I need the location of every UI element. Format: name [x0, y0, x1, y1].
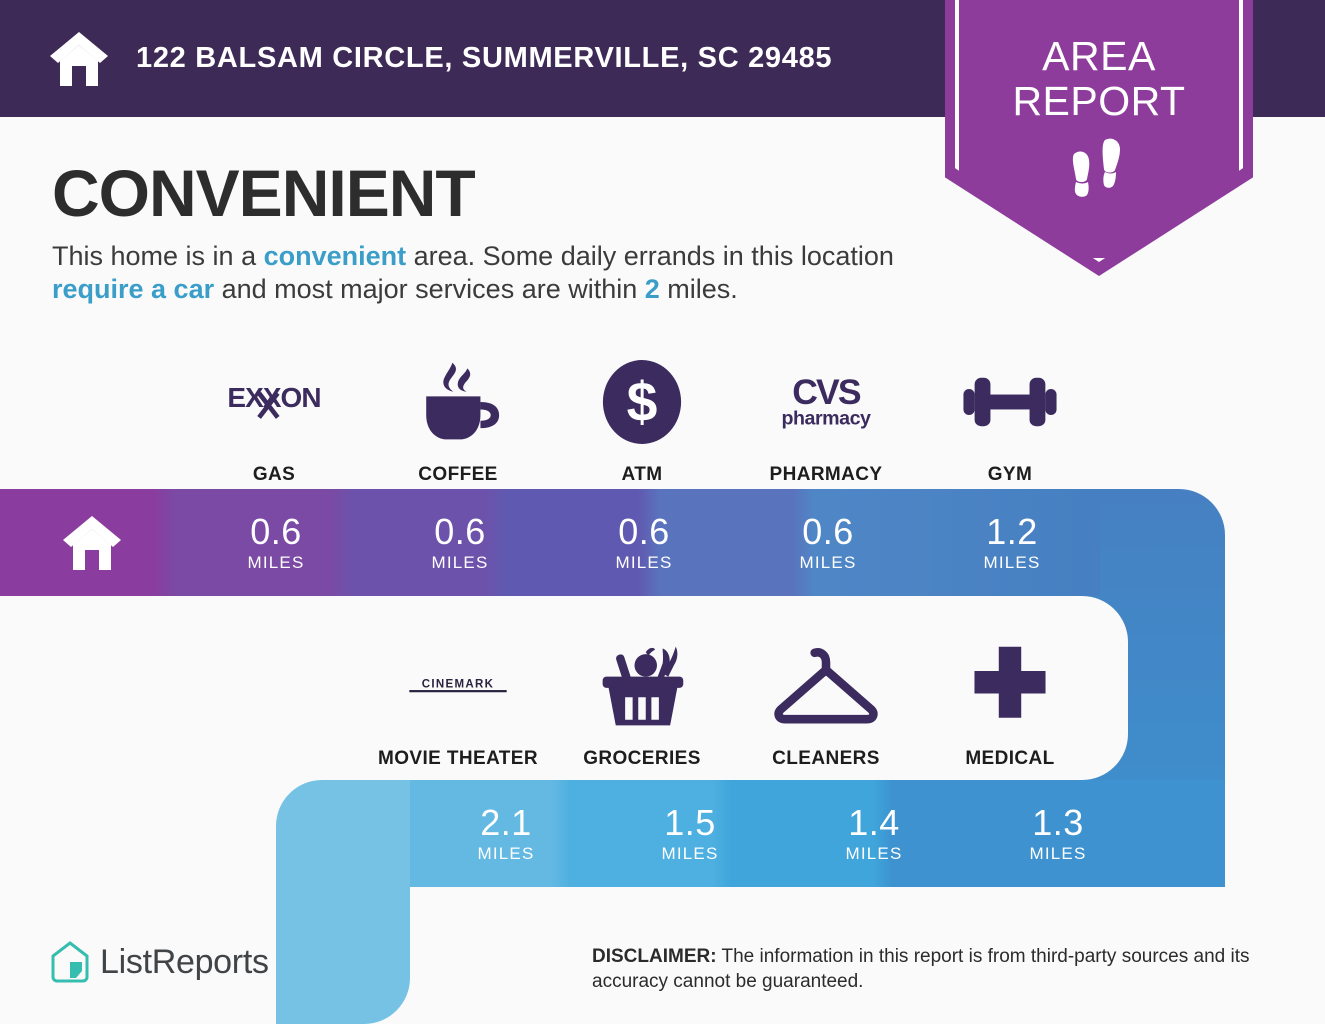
amenity-label: MOVIE THEATER — [378, 748, 538, 770]
area-report-badge-text: AREA REPORT — [945, 34, 1253, 124]
distance-value: 1.3 — [1032, 804, 1084, 842]
amenity-medical: MEDICAL — [918, 640, 1102, 770]
page-description: This home is in a convenient area. Some … — [52, 240, 932, 306]
svg-text:$: $ — [627, 371, 658, 433]
amenity-movie-theater: CINEMARK MOVIE THEATER — [366, 640, 550, 770]
amenity-cleaners: CLEANERS — [734, 640, 918, 770]
badge-line-1: AREA — [945, 34, 1253, 79]
distance-value: 1.2 — [986, 513, 1038, 551]
desc-highlight-require-a-car: require a car — [52, 274, 214, 304]
amenity-label: CLEANERS — [772, 748, 880, 770]
amenity-gym: GYM — [918, 356, 1102, 486]
distance-unit: MILES — [477, 844, 534, 864]
grocery-basket-icon — [593, 640, 691, 732]
coffee-cup-icon — [411, 356, 505, 448]
distance-cell-movie-theater: 2.1 MILES — [414, 780, 598, 887]
amenity-icon-row-1: EXXON GAS COFFEE $ — [182, 356, 1102, 486]
distance-unit: MILES — [1029, 844, 1086, 864]
home-marker-cell — [0, 489, 184, 596]
distance-unit: MILES — [247, 553, 304, 573]
distance-row-2: 2.1 MILES 1.5 MILES 1.4 MILES 1.3 MILES — [230, 780, 1150, 887]
medical-cross-icon — [967, 640, 1053, 732]
home-icon — [48, 30, 110, 88]
area-report-infographic: 122 BALSAM CIRCLE, SUMMERVILLE, SC 29485… — [0, 0, 1325, 1024]
distance-value: 1.4 — [848, 804, 900, 842]
svg-text:pharmacy: pharmacy — [782, 407, 872, 429]
amenity-gas: EXXON GAS — [182, 356, 366, 486]
badge-line-2: REPORT — [945, 79, 1253, 124]
distance-cell-pharmacy: 0.6 MILES — [736, 489, 920, 596]
amenity-atm: $ ATM — [550, 356, 734, 486]
desc-part-3: and most major services are within — [214, 274, 645, 304]
distance-unit: MILES — [431, 553, 488, 573]
exxon-logo-icon: EXXON — [218, 356, 330, 448]
distance-unit: MILES — [845, 844, 902, 864]
distance-cell-gym: 1.2 MILES — [920, 489, 1104, 596]
svg-text:CINEMARK: CINEMARK — [422, 678, 495, 690]
distance-cell-medical: 1.3 MILES — [966, 780, 1150, 887]
disclaimer-label: DISCLAIMER: — [592, 946, 717, 967]
desc-part-1: This home is in a — [52, 241, 264, 271]
clothes-hanger-icon — [771, 640, 881, 732]
distance-cell-coffee: 0.6 MILES — [368, 489, 552, 596]
dumbbell-icon — [956, 356, 1064, 448]
distance-unit: MILES — [983, 553, 1040, 573]
distance-cell-groceries: 1.5 MILES — [598, 780, 782, 887]
cvs-pharmacy-logo-icon: CVS pharmacy — [768, 356, 884, 448]
distance-value: 0.6 — [618, 513, 670, 551]
amenity-label: ATM — [622, 464, 663, 486]
distance-unit: MILES — [799, 553, 856, 573]
desc-part-4: miles. — [660, 274, 738, 304]
distance-cell-atm: 0.6 MILES — [552, 489, 736, 596]
distance-cell-cleaners: 1.4 MILES — [782, 780, 966, 887]
svg-text:CVS: CVS — [792, 373, 861, 412]
property-address: 122 BALSAM CIRCLE, SUMMERVILLE, SC 29485 — [136, 42, 832, 75]
amenity-groceries: GROCERIES — [550, 640, 734, 770]
distance-row-1: 0.6 MILES 0.6 MILES 0.6 MILES 0.6 MILES … — [0, 489, 1104, 596]
distance-value: 0.6 — [434, 513, 486, 551]
dollar-circle-icon: $ — [601, 356, 683, 448]
amenity-label: COFFEE — [418, 464, 497, 486]
amenity-pharmacy: CVS pharmacy PHARMACY — [734, 356, 918, 486]
desc-part-2: area. Some daily errands in this locatio… — [406, 241, 894, 271]
distance-value: 0.6 — [802, 513, 854, 551]
listreports-house-icon — [50, 940, 90, 984]
amenity-label: MEDICAL — [965, 748, 1054, 770]
distance-value: 0.6 — [250, 513, 302, 551]
page-title: CONVENIENT — [52, 155, 475, 231]
amenity-label: GROCERIES — [583, 748, 701, 770]
distance-cell-gas: 0.6 MILES — [184, 489, 368, 596]
distance-value: 1.5 — [664, 804, 716, 842]
amenity-coffee: COFFEE — [366, 356, 550, 486]
amenity-label: GAS — [253, 464, 295, 486]
distance-unit: MILES — [615, 553, 672, 573]
listreports-wordmark: ListReports — [100, 943, 269, 982]
home-icon — [61, 514, 123, 572]
listreports-logo: ListReports — [50, 940, 269, 984]
distance-unit: MILES — [661, 844, 718, 864]
desc-highlight-convenient: convenient — [264, 241, 407, 271]
amenity-label: PHARMACY — [770, 464, 883, 486]
amenity-label: GYM — [988, 464, 1032, 486]
distance-value: 2.1 — [480, 804, 532, 842]
desc-highlight-miles: 2 — [645, 274, 660, 304]
cinemark-logo-icon: CINEMARK — [404, 640, 512, 732]
amenity-icon-row-2: CINEMARK MOVIE THEATER — [366, 640, 1102, 770]
disclaimer: DISCLAIMER: The information in this repo… — [592, 944, 1282, 994]
footprints-icon — [1060, 130, 1136, 206]
distance-row-2-spacer — [230, 780, 414, 887]
